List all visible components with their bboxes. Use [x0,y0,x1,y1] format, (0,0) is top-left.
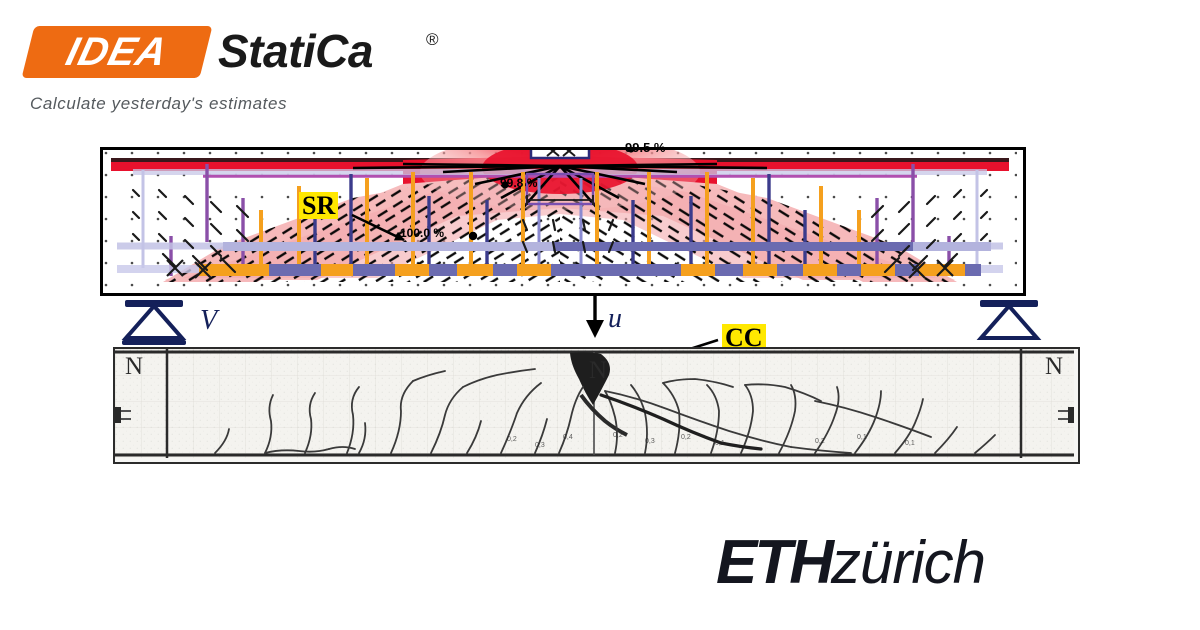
svg-text:0,1: 0,1 [857,434,867,441]
svg-text:0,3: 0,3 [535,442,545,449]
idea-tagline: Calculate yesterday's estimates [30,94,287,114]
load-arrow-u [586,295,604,338]
idea-logo-mark-label: IDEA [62,32,172,72]
nonlinear-fea-beam-model [100,147,1026,296]
svg-text:0,2: 0,2 [507,436,517,443]
annotation-tag-sr: SR [299,192,338,219]
svg-text:0,1: 0,1 [905,440,915,447]
svg-text:0,2: 0,2 [681,434,691,441]
shear-force-label: V [200,305,217,337]
idea-statica-logo: IDEA StatiCa ® Calculate yesterday's est… [22,14,442,114]
eth-wordmark-light: zürich [831,529,985,596]
registered-trademark-icon: ® [426,30,439,50]
photo-label-n-middle: N [589,357,607,385]
eth-zurich-logo: ETHzürich [716,527,985,593]
svg-text:0,1: 0,1 [715,440,725,447]
svg-text:0,4: 0,4 [563,434,573,441]
bottom-reinforcement-lower [199,264,981,276]
displacement-label: u [608,303,622,335]
utilization-label-998: 99.8 % [500,176,537,190]
fea-stress-field-graphic [103,150,1017,287]
support-roller-right [980,300,1038,338]
utilization-label-995: 99.5 % [625,140,665,155]
statica-wordmark: StatiCa [218,28,373,74]
eth-wordmark-bold: ETH [716,528,831,597]
experimental-beam-crack-photograph: 0,20,3 0,40,2 0,30,2 0,10,2 0,10,1 N N N [113,347,1080,464]
svg-text:0,3: 0,3 [645,438,655,445]
svg-text:0,2: 0,2 [815,438,825,445]
svg-text:0,2: 0,2 [613,432,623,439]
idea-logo-mark: IDEA [22,26,213,78]
support-pin-left [122,300,186,345]
photo-label-n-right: N [1045,353,1063,381]
photo-label-n-left: N [125,353,143,381]
utilization-label-1000: 100.0 % [400,226,444,240]
bottom-reinforcement-upper [223,242,991,251]
